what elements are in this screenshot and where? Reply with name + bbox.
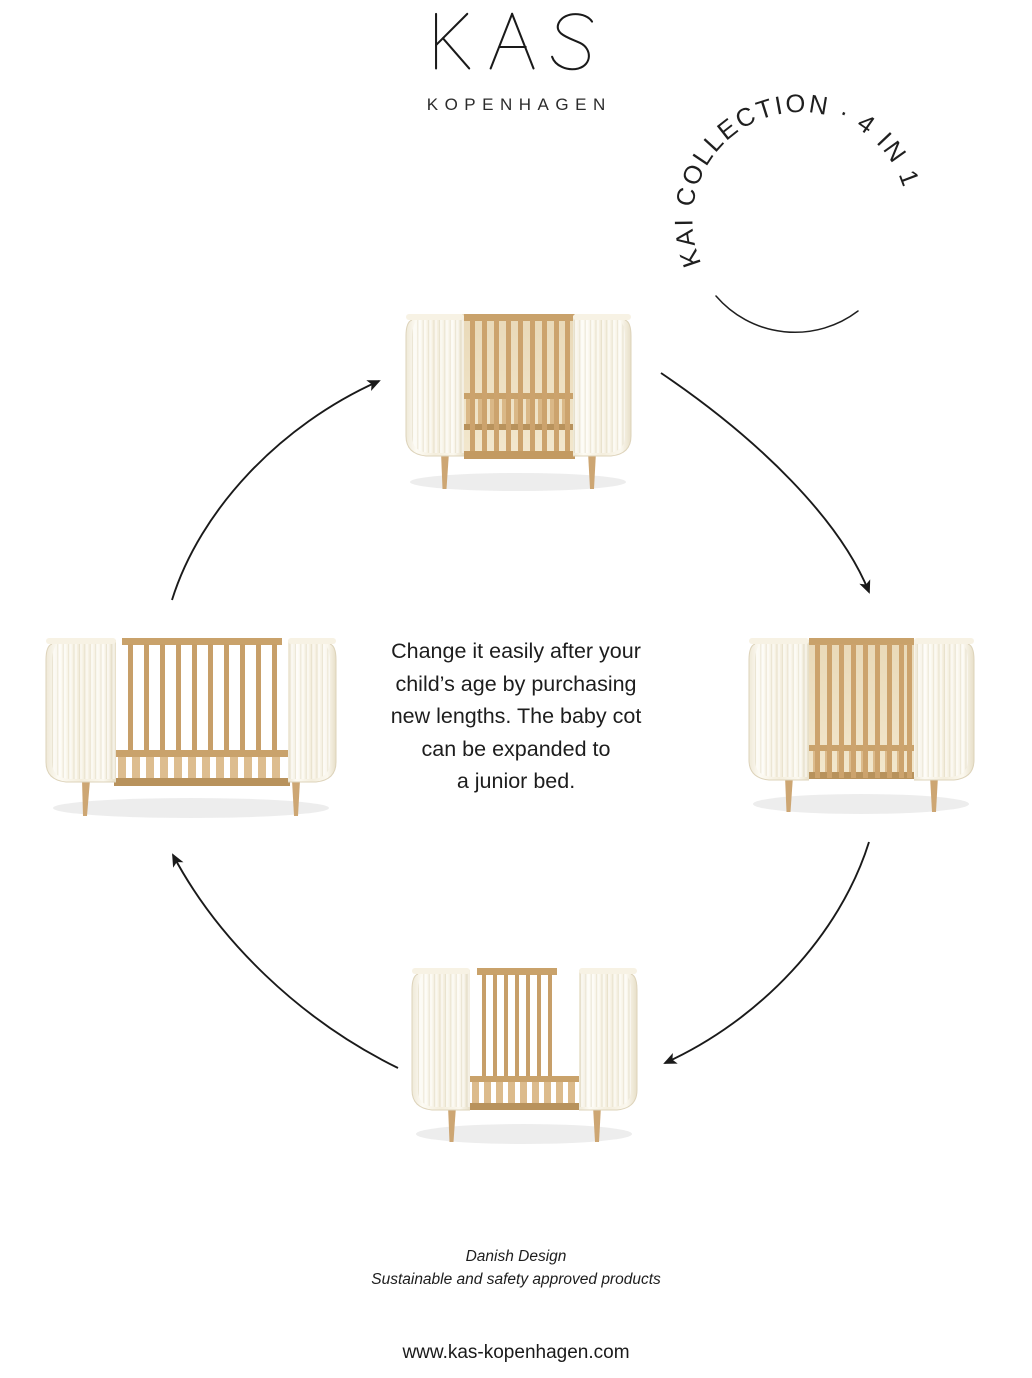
crib-bars [477,968,557,1076]
crib-panel-right [573,316,631,456]
stage-right-baby-cot-low-base [729,608,994,823]
stage-left-junior-bed [26,612,356,827]
badge-text: KAI COLLECTION · 4 IN 1 [670,90,925,271]
brand-logo: KOPENHAGEN [0,8,1032,115]
crib-top-rail-right [573,314,631,320]
crib-top-rail-left [406,314,464,320]
footer-tagline-line-2: Sustainable and safety approved products [0,1268,1032,1291]
kas-wordmark-icon [426,8,606,86]
center-copy-line-3: new lengths. The baby cot [366,700,666,733]
center-copy-line-5: a junior bed. [366,765,666,798]
crib-panel-right [914,640,974,780]
crib-panel-left [46,640,116,782]
crib-top-rail-right [579,968,637,974]
crib-top-rail-right [914,638,974,644]
center-copy-line-4: can be expanded to [366,733,666,766]
footer-tagline: Danish Design Sustainable and safety app… [0,1245,1032,1291]
arrow-left-to-top [172,381,379,600]
crib-top-rail-left [412,968,470,974]
arrow-right-to-bottom [665,842,869,1063]
stage-top-baby-cot-high-base [386,296,651,496]
crib-panel-left [749,640,809,780]
arrow-top-to-right [661,373,869,592]
badge-arc-line [716,296,858,332]
crib-panel-left [412,970,470,1110]
crib-mattress-base [468,1076,581,1110]
center-description: Change it easily after your child’s age … [366,635,666,798]
kai-collection-badge: KAI COLLECTION · 4 IN 1 [690,108,940,328]
stage-bottom-toddler-bed [392,938,657,1153]
crib-top-rail-left [749,638,809,644]
crib-top-rail-right [288,638,336,644]
poster-page: KOPENHAGEN KAI COLLECTION · 4 IN 1 [0,0,1032,1378]
crib-bars [122,638,282,750]
crib-panel-left [406,316,464,456]
badge-textpath: KAI COLLECTION · 4 IN 1 [670,90,925,271]
crib-mattress-base [114,750,290,786]
footer-website-url[interactable]: www.kas-kopenhagen.com [0,1342,1032,1364]
arrow-bottom-to-left [173,855,398,1068]
center-copy-line-1: Change it easily after your [366,635,666,668]
crib-panel-right [579,970,637,1110]
footer-tagline-line-1: Danish Design [0,1245,1032,1268]
crib-top-rail-left [46,638,116,644]
crib-shadow [53,798,329,818]
crib-panel-right [288,640,336,782]
center-copy-line-2: child’s age by purchasing [366,668,666,701]
